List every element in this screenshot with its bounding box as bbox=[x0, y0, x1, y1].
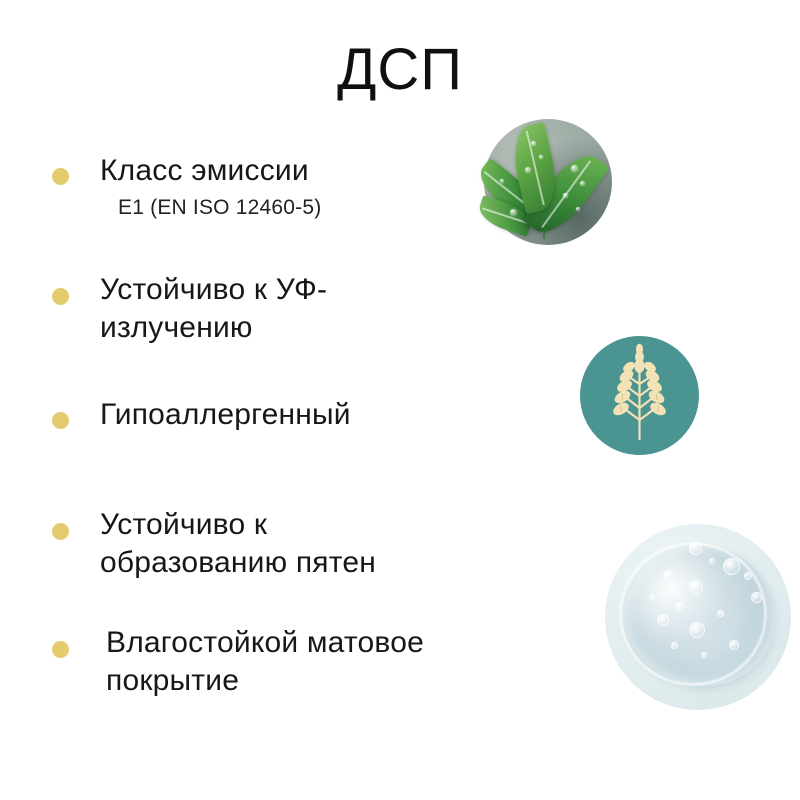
bubble-icon bbox=[671, 642, 678, 649]
water-droplet-icon bbox=[531, 141, 536, 146]
bubble-icon bbox=[744, 572, 752, 580]
water-droplet-icon bbox=[580, 181, 585, 186]
bubble-icon bbox=[751, 592, 762, 603]
bubble-icon bbox=[664, 570, 674, 580]
slide-canvas: ДСП Класс эмиссии E1 (EN ISO 12460-5) Ус… bbox=[0, 0, 800, 800]
feature-label: Устойчиво к образованию пятен bbox=[100, 506, 376, 583]
water-droplet-icon bbox=[525, 167, 531, 173]
feature-label: Влагостойкой матовое покрытие bbox=[106, 624, 424, 701]
bubble-icon bbox=[649, 594, 655, 600]
water-droplet-icon bbox=[500, 179, 504, 183]
bubble-icon bbox=[709, 558, 715, 564]
page-title: ДСП bbox=[0, 40, 800, 101]
bubble-icon bbox=[675, 602, 684, 611]
feature-label: Гипоаллергенный bbox=[100, 396, 351, 434]
bubble-icon bbox=[729, 640, 739, 650]
feature-label: Класс эмиссии bbox=[100, 152, 321, 190]
water-droplet-icon bbox=[563, 193, 568, 198]
water-droplet-icon bbox=[539, 155, 543, 159]
bubble-icon bbox=[723, 558, 740, 575]
green-leaves-with-water-droplets-icon bbox=[484, 119, 612, 245]
feature-label: Устойчиво к УФ- излучению bbox=[100, 271, 327, 348]
list-item: Устойчиво к образованию пятен bbox=[48, 506, 376, 583]
water-droplet-icon bbox=[571, 165, 578, 172]
bullet-dot-icon bbox=[52, 641, 69, 658]
water-droplet-icon bbox=[510, 209, 517, 216]
bubble-icon bbox=[689, 542, 702, 555]
bullet-dot-icon bbox=[52, 412, 69, 429]
bullet-dot-icon bbox=[52, 168, 69, 185]
water-gel-droplet-icon bbox=[605, 524, 791, 710]
bullet-dot-icon bbox=[52, 288, 69, 305]
bubble-icon bbox=[689, 580, 703, 594]
wheat-sprig-icon bbox=[580, 336, 699, 455]
list-item: Гипоаллергенный bbox=[48, 396, 351, 434]
bubble-icon bbox=[717, 610, 724, 617]
water-droplet-icon bbox=[576, 207, 580, 211]
bubble-icon bbox=[657, 614, 669, 626]
gel-ripple-ring bbox=[619, 542, 767, 686]
list-item: Класс эмиссии E1 (EN ISO 12460-5) bbox=[48, 152, 321, 222]
bullet-dot-icon bbox=[52, 523, 69, 540]
wheat-sprig-glyph bbox=[580, 336, 699, 455]
list-item: Устойчиво к УФ- излучению bbox=[48, 271, 327, 348]
feature-subtext: E1 (EN ISO 12460-5) bbox=[118, 194, 321, 221]
list-item: Влагостойкой матовое покрытие bbox=[54, 624, 424, 701]
bubble-icon bbox=[701, 652, 707, 658]
bubble-icon bbox=[689, 622, 705, 638]
